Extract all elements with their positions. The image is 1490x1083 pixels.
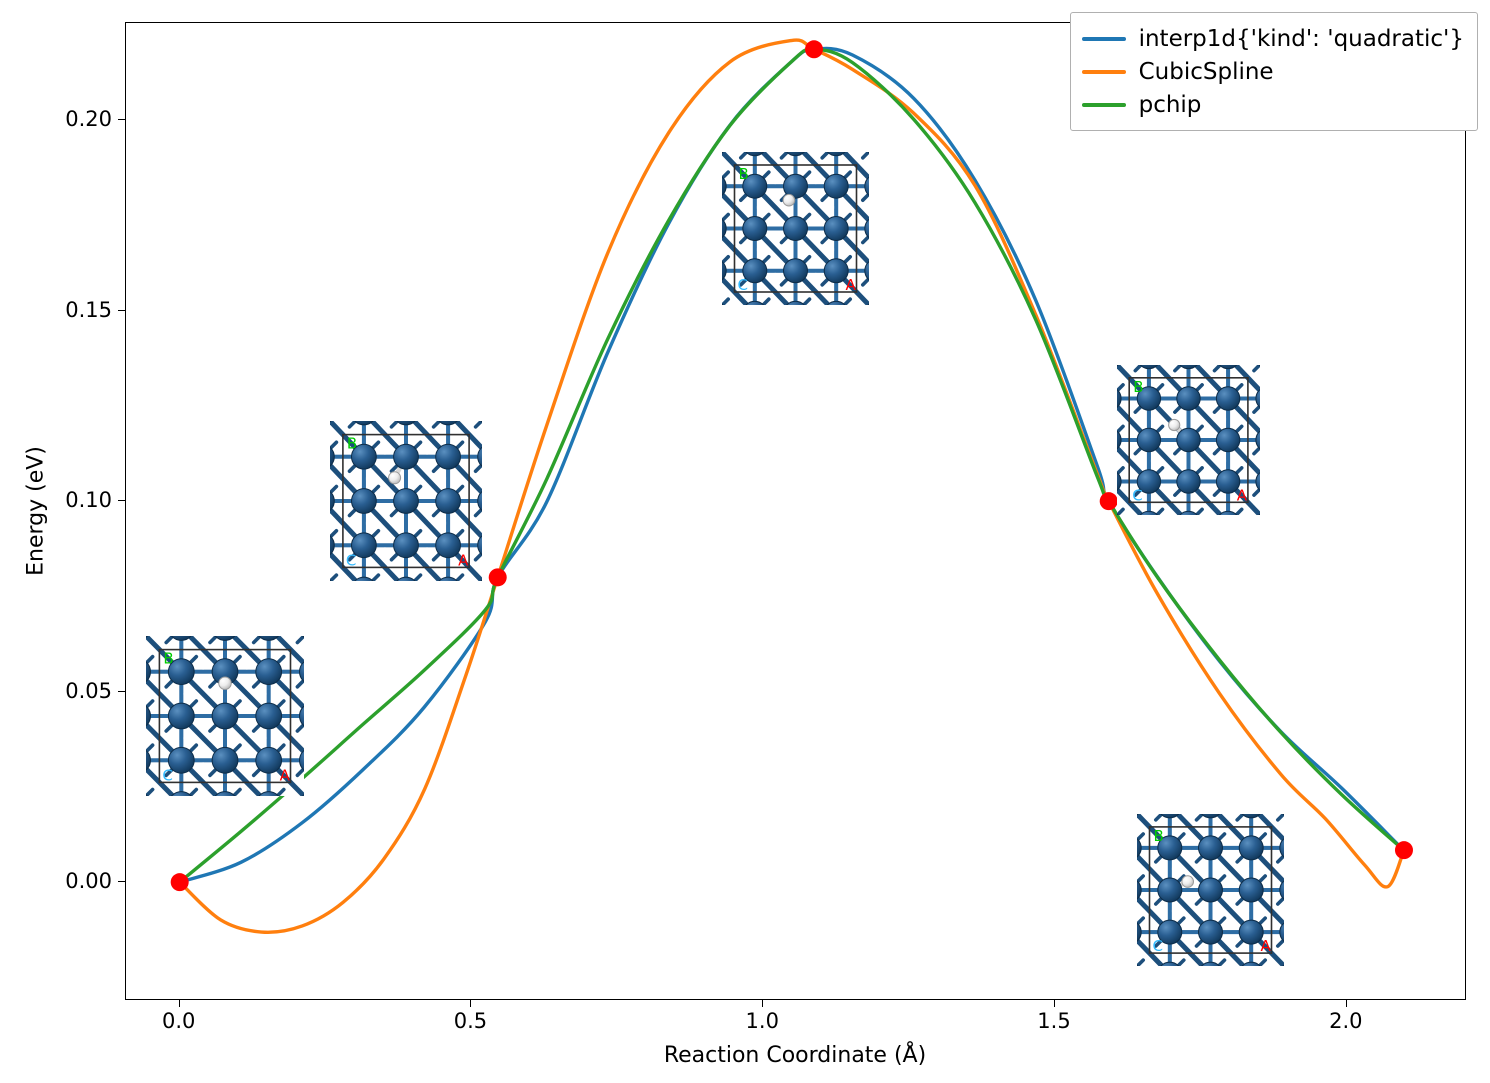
hydrogen-atom (1169, 419, 1180, 430)
structure-svg: BCA (1117, 365, 1260, 515)
legend-label-pchip: pchip (1139, 92, 1202, 118)
hydrogen-atom (783, 194, 795, 206)
lattice-label-a: A (846, 276, 857, 294)
x-tick-label: 0.5 (454, 1009, 487, 1033)
inset-image-3: BCA (1117, 365, 1260, 515)
lattice-label-b: B (1154, 827, 1164, 845)
legend: interp1d{'kind': 'quadratic'} CubicSplin… (1070, 12, 1478, 131)
inset-image-1: BCA (330, 421, 482, 581)
lattice-label-c: C (1132, 486, 1142, 504)
lattice-label-a: A (458, 551, 469, 569)
legend-swatch-pchip (1082, 103, 1126, 107)
y-tick-label: 0.15 (65, 298, 112, 322)
neb-image-marker (1100, 492, 1118, 510)
lattice-label-b: B (347, 435, 357, 453)
legend-label-interp1d: interp1d{'kind': 'quadratic'} (1139, 26, 1464, 52)
legend-item-pchip: pchip (1082, 88, 1464, 121)
inset-image-0-initial: BCA (146, 636, 304, 796)
legend-label-cubicspline: CubicSpline (1139, 59, 1274, 85)
lattice-label-a: A (1237, 486, 1248, 504)
y-tick-mark (118, 310, 125, 311)
x-tick-mark (470, 1000, 471, 1007)
lattice-label-b: B (1133, 378, 1143, 396)
x-axis-label: Reaction Coordinate (Å) (664, 1043, 926, 1068)
structure-svg: BCA (1137, 814, 1284, 966)
x-tick-mark (1054, 1000, 1055, 1007)
y-tick-label: 0.05 (65, 679, 112, 703)
x-tick-mark (179, 1000, 180, 1007)
lattice-label-a: A (280, 766, 291, 784)
lattice-label-a: A (1261, 937, 1272, 955)
lattice-label-c: C (162, 766, 172, 784)
lattice-label-c: C (1153, 937, 1163, 955)
legend-item-interp1d: interp1d{'kind': 'quadratic'} (1082, 22, 1464, 55)
y-axis-label: Energy (eV) (24, 446, 49, 576)
legend-swatch-cubicspline (1082, 70, 1126, 74)
y-tick-mark (118, 881, 125, 882)
lattice-label-b: B (739, 165, 749, 183)
y-tick-label: 0.00 (65, 869, 112, 893)
x-tick-mark (1346, 1000, 1347, 1007)
inset-image-2-transition-state: BCA (722, 152, 869, 305)
y-tick-label: 0.20 (65, 107, 112, 131)
x-tick-label: 0.0 (162, 1009, 195, 1033)
neb-image-marker (171, 873, 189, 891)
x-tick-label: 1.0 (746, 1009, 779, 1033)
y-tick-mark (118, 500, 125, 501)
y-tick-label: 0.10 (65, 488, 112, 512)
figure-canvas: 0.00.51.01.52.00.000.050.100.150.20 Reac… (0, 0, 1490, 1083)
hydrogen-atom (389, 472, 401, 484)
hydrogen-atom (219, 677, 231, 689)
legend-swatch-interp1d (1082, 37, 1126, 41)
y-tick-mark (118, 691, 125, 692)
structure-svg: BCA (330, 421, 482, 581)
x-tick-label: 2.0 (1329, 1009, 1362, 1033)
neb-image-marker (1395, 841, 1413, 859)
neb-image-marker (489, 568, 507, 586)
legend-item-cubicspline: CubicSpline (1082, 55, 1464, 88)
structure-svg: BCA (722, 152, 869, 305)
lattice-label-c: C (346, 551, 356, 569)
lattice-label-c: C (738, 276, 748, 294)
y-tick-mark (118, 119, 125, 120)
x-tick-label: 1.5 (1037, 1009, 1070, 1033)
structure-svg: BCA (146, 636, 304, 796)
inset-image-4-final: BCA (1137, 814, 1284, 966)
hydrogen-atom (1182, 876, 1194, 888)
x-tick-mark (762, 1000, 763, 1007)
lattice-label-b: B (163, 650, 173, 668)
neb-image-marker (805, 40, 823, 58)
